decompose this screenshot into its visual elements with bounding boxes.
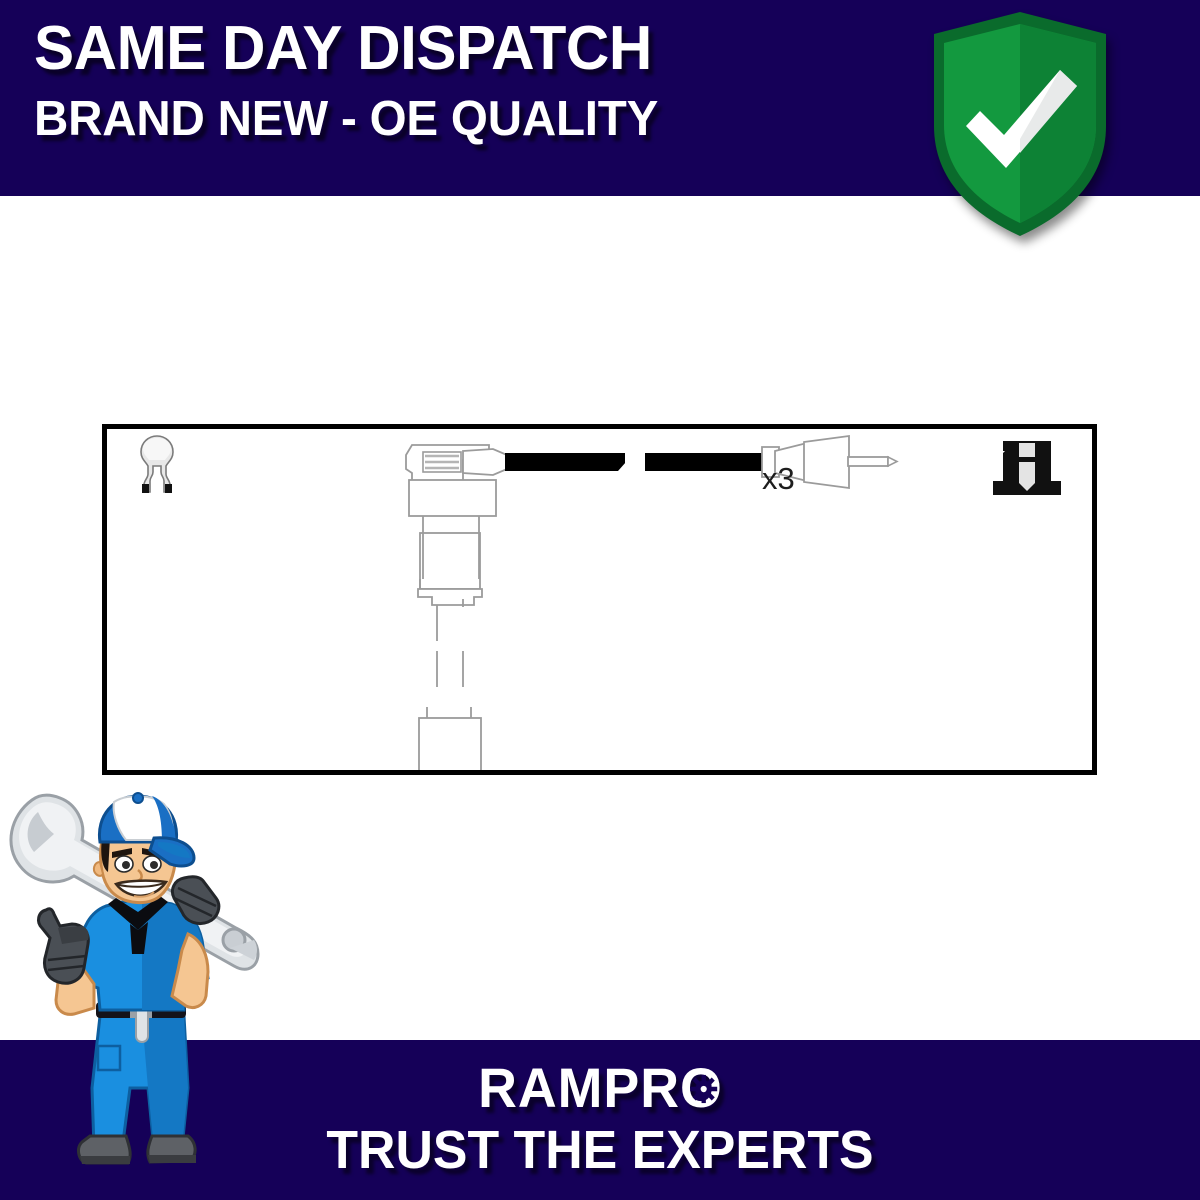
quantity-label: x3 xyxy=(762,461,795,497)
shield-check-icon xyxy=(930,8,1110,240)
mechanic-mascot xyxy=(2,788,272,1192)
spark-plug-boot-icon xyxy=(141,436,173,493)
coil-terminal-icon xyxy=(993,441,1061,495)
banner-headline: SAME DAY DISPATCH xyxy=(34,14,868,84)
ignition-lead-set-diagram xyxy=(107,429,1092,770)
vertical-lead xyxy=(418,533,482,770)
banner-subline: BRAND NEW - OE QUALITY xyxy=(34,90,868,148)
product-listing-image: SAME DAY DISPATCH BRAND NEW - OE QUALITY xyxy=(0,0,1200,1200)
cable-segment xyxy=(645,453,765,471)
cable-segment xyxy=(505,453,625,471)
banner-text-block: SAME DAY DISPATCH BRAND NEW - OE QUALITY xyxy=(34,14,894,148)
coil-end-connector xyxy=(406,445,507,533)
glove-thumbs-up xyxy=(39,909,89,983)
product-image-panel: x3 xyxy=(102,424,1097,775)
